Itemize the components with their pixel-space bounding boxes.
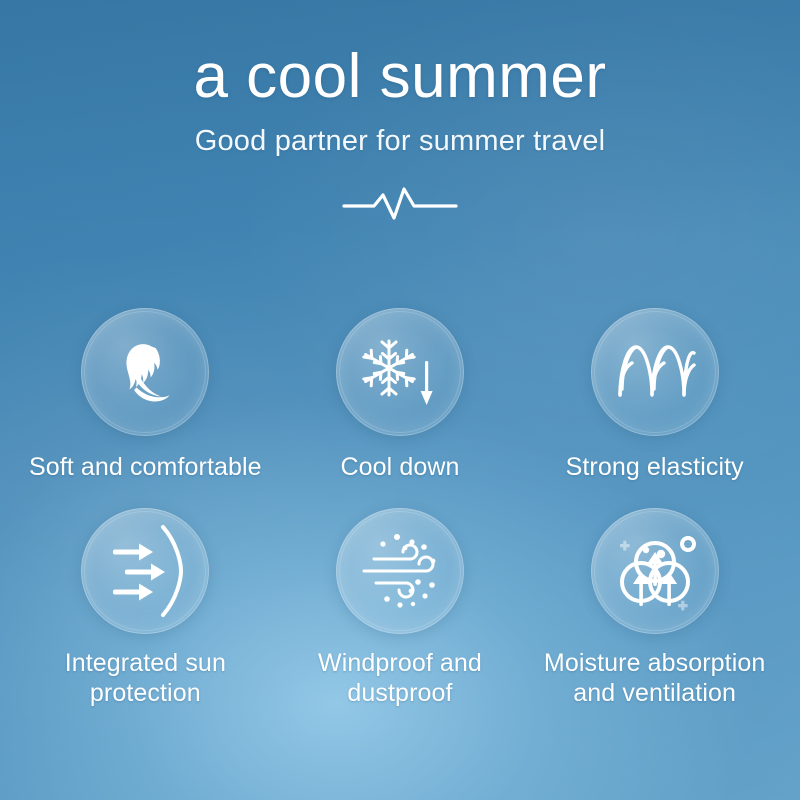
feature-label: Soft and comfortable — [29, 452, 262, 482]
page-title: a cool summer — [0, 0, 800, 109]
feature-bubble — [336, 508, 464, 634]
feature-item-cool[interactable]: Cool down — [273, 308, 528, 508]
feature-bubble — [591, 508, 719, 634]
arrow-right-icon — [125, 564, 165, 581]
snowflake-arrow-icon — [359, 333, 441, 411]
feature-item-soft[interactable]: Soft and comfortable — [18, 308, 273, 508]
wind-dust-icon — [354, 525, 446, 617]
sun-shield-arrows-icon — [97, 523, 193, 619]
page-subtitle: Good partner for summer travel — [0, 109, 800, 158]
feature-label: Integrated sun protection — [18, 648, 273, 708]
pulse-line-divider-icon — [340, 180, 460, 224]
droplet-dot — [656, 550, 664, 558]
feature-label: Moisture absorption and ventilation — [544, 648, 765, 708]
feature-bubble — [81, 508, 209, 634]
feature-bubble — [591, 308, 719, 436]
feature-item-windproof[interactable]: Windproof and dustproof — [273, 508, 528, 708]
arrow-right-icon — [113, 544, 153, 561]
feature-item-sun-protection[interactable]: Integrated sun protection — [18, 508, 273, 708]
feature-item-moisture[interactable]: Moisture absorption and ventilation — [527, 508, 782, 708]
poster-header: a cool summer Good partner for summer tr… — [0, 0, 800, 229]
vapor-ring — [682, 538, 694, 550]
feature-grid: Soft and comfortable — [0, 308, 800, 708]
feather-icon — [106, 333, 184, 411]
feature-bubble — [336, 308, 464, 436]
moisture-vent-icon — [608, 524, 702, 618]
poster-canvas: a cool summer Good partner for summer tr… — [0, 0, 800, 800]
down-arrow-icon — [421, 361, 433, 405]
droplet-dot — [642, 547, 648, 553]
feature-item-elasticity[interactable]: Strong elasticity — [527, 308, 782, 508]
feature-label: Cool down — [340, 452, 459, 482]
feature-label: Windproof and dustproof — [318, 648, 482, 708]
feature-bubble — [81, 308, 209, 436]
arrow-right-icon — [113, 584, 153, 601]
spring-coil-icon — [612, 337, 698, 407]
feature-label: Strong elasticity — [566, 452, 744, 482]
